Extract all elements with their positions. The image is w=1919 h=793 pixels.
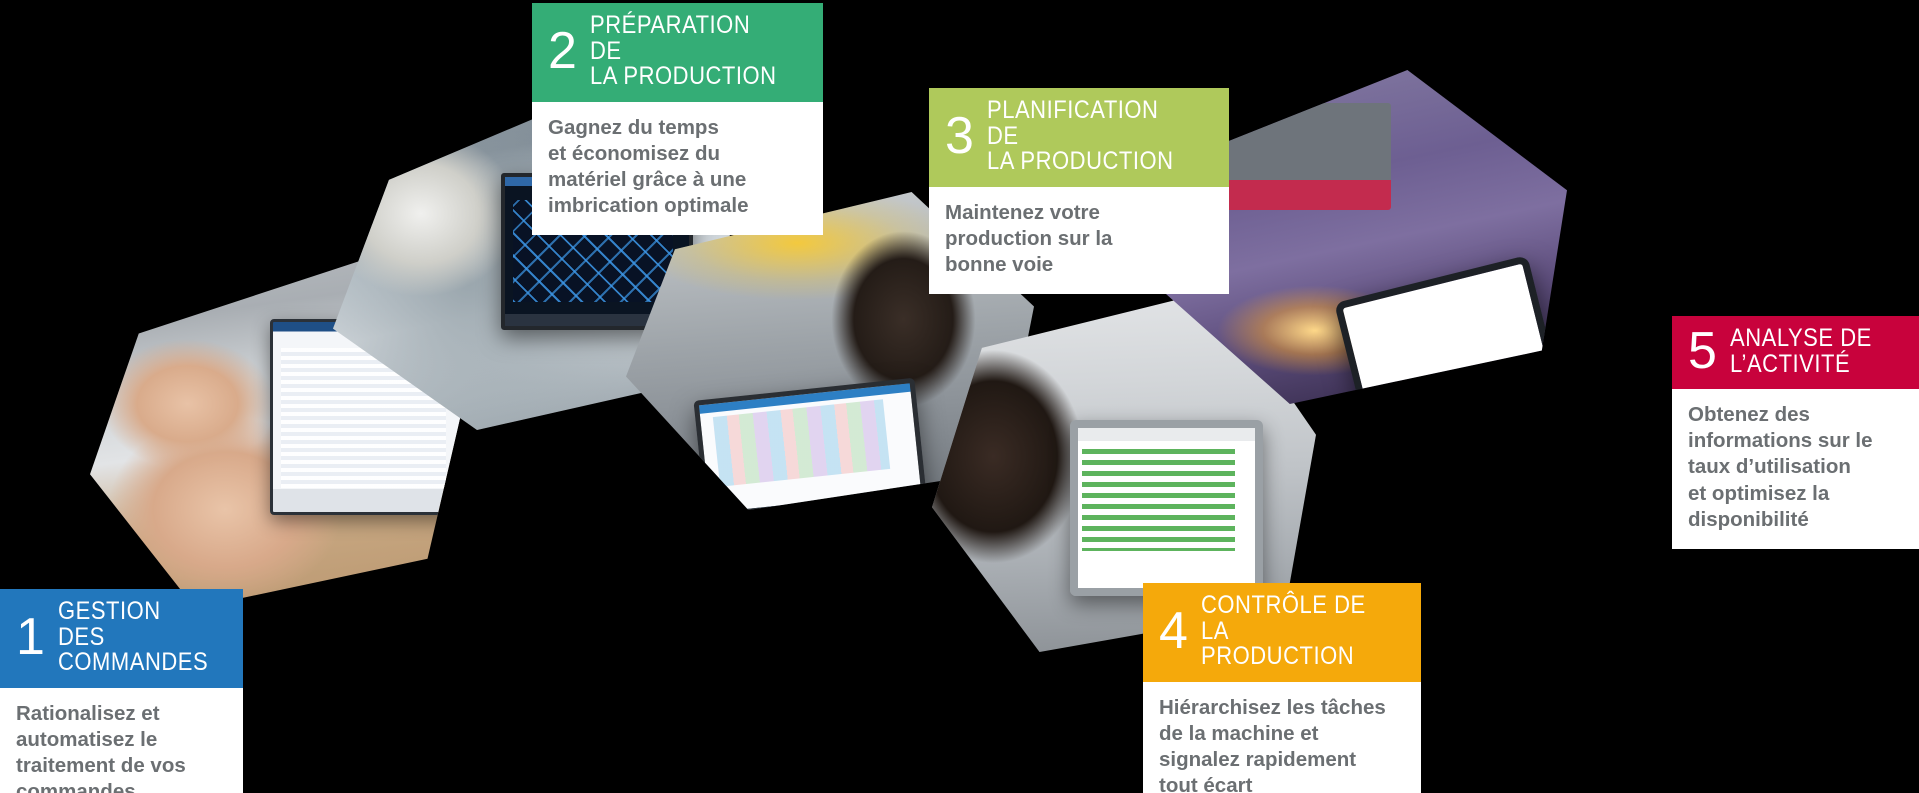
step-4-header: 4 CONTRÔLE DE LA PRODUCTION: [1143, 583, 1421, 682]
step-1-number: 1: [16, 615, 44, 660]
step-3-title: PLANIFICATION DE LA PRODUCTION: [987, 98, 1186, 175]
step-2-body: Gagnez du temps et économisez du matérie…: [532, 102, 823, 236]
step-2-header: 2 PRÉPARATION DE LA PRODUCTION: [532, 3, 823, 102]
step-1-header: 1 GESTION DES COMMANDES: [0, 589, 243, 688]
step-3-number: 3: [945, 114, 973, 159]
step-4-title: CONTRÔLE DE LA PRODUCTION: [1201, 593, 1381, 670]
step-3-card[interactable]: 3 PLANIFICATION DE LA PRODUCTION Mainten…: [929, 88, 1229, 294]
infographic-canvas: 1 GESTION DES COMMANDES Rationalisez et …: [0, 0, 1919, 793]
step-5-body: Obtenez des informations sur le taux d’u…: [1672, 389, 1919, 549]
step-5-card[interactable]: 5 ANALYSE DE L’ACTIVITÉ Obtenez des info…: [1672, 316, 1919, 549]
step-1-body: Rationalisez et automatisez le traitemen…: [0, 688, 243, 793]
step-5-header: 5 ANALYSE DE L’ACTIVITÉ: [1672, 316, 1919, 389]
step-2-card[interactable]: 2 PRÉPARATION DE LA PRODUCTION Gagnez du…: [532, 3, 823, 235]
step-1-title: GESTION DES COMMANDES: [58, 599, 208, 676]
step-3-header: 3 PLANIFICATION DE LA PRODUCTION: [929, 88, 1229, 187]
step-3-body: Maintenez votre production sur la bonne …: [929, 187, 1229, 295]
step-2-title: PRÉPARATION DE LA PRODUCTION: [590, 13, 781, 90]
step-4-card[interactable]: 4 CONTRÔLE DE LA PRODUCTION Hiérarchisez…: [1143, 583, 1421, 793]
step-2-number: 2: [548, 29, 576, 74]
step-5-number: 5: [1688, 329, 1716, 374]
step-4-number: 4: [1159, 609, 1187, 654]
step-1-card[interactable]: 1 GESTION DES COMMANDES Rationalisez et …: [0, 589, 243, 793]
step-5-title: ANALYSE DE L’ACTIVITÉ: [1730, 326, 1872, 377]
step-4-body: Hiérarchisez les tâches de la machine et…: [1143, 682, 1421, 793]
